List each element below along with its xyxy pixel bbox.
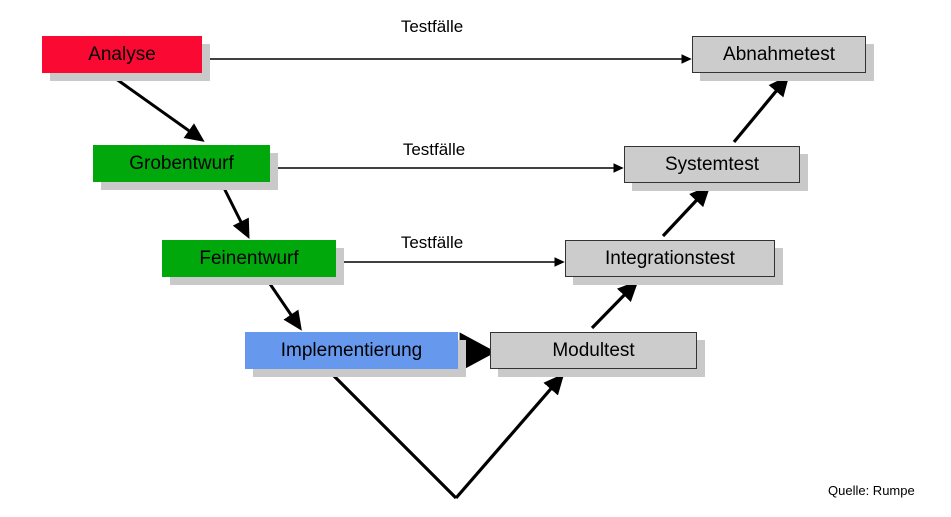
node-feinentwurf-label: Feinentwurf — [199, 249, 298, 268]
node-analyse-label: Analyse — [88, 45, 156, 64]
node-abnahmetest-label: Abnahmetest — [723, 45, 835, 64]
source-note: Quelle: Rumpe — [828, 483, 915, 498]
node-grobentwurf[interactable]: Grobentwurf — [93, 145, 270, 182]
edge-integrationstest-systemtest — [663, 188, 708, 236]
node-analyse[interactable]: Analyse — [42, 36, 202, 73]
edge-label-testfaelle-2: Testfälle — [387, 140, 481, 160]
node-integrationstest[interactable]: Integrationstest — [565, 240, 775, 277]
edge-label-testfaelle-3: Testfälle — [385, 233, 479, 253]
node-modultest[interactable]: Modultest — [490, 332, 697, 369]
edge-grobentwurf-feinentwurf — [222, 184, 248, 236]
v-model-diagram: Analyse Grobentwurf Feinentwurf Implemen… — [0, 0, 951, 517]
edge-v-right-leg — [456, 376, 562, 498]
node-integrationstest-label: Integrationstest — [605, 249, 735, 268]
edge-v-left-leg — [331, 373, 456, 498]
edge-label-testfaelle-1: Testfälle — [385, 17, 479, 37]
node-feinentwurf[interactable]: Feinentwurf — [162, 240, 336, 277]
node-systemtest-label: Systemtest — [665, 155, 759, 174]
node-grobentwurf-label: Grobentwurf — [129, 154, 234, 173]
node-modultest-label: Modultest — [552, 341, 634, 360]
node-implementierung[interactable]: Implementierung — [245, 332, 458, 369]
edge-analyse-grobentwurf — [112, 76, 202, 140]
node-implementierung-label: Implementierung — [281, 341, 423, 360]
edge-feinentwurf-implementierung — [268, 281, 300, 328]
edge-modultest-integrationstest — [592, 283, 636, 328]
node-abnahmetest[interactable]: Abnahmetest — [692, 36, 866, 73]
edge-systemtest-abnahmetest — [734, 78, 787, 142]
node-systemtest[interactable]: Systemtest — [624, 146, 800, 183]
